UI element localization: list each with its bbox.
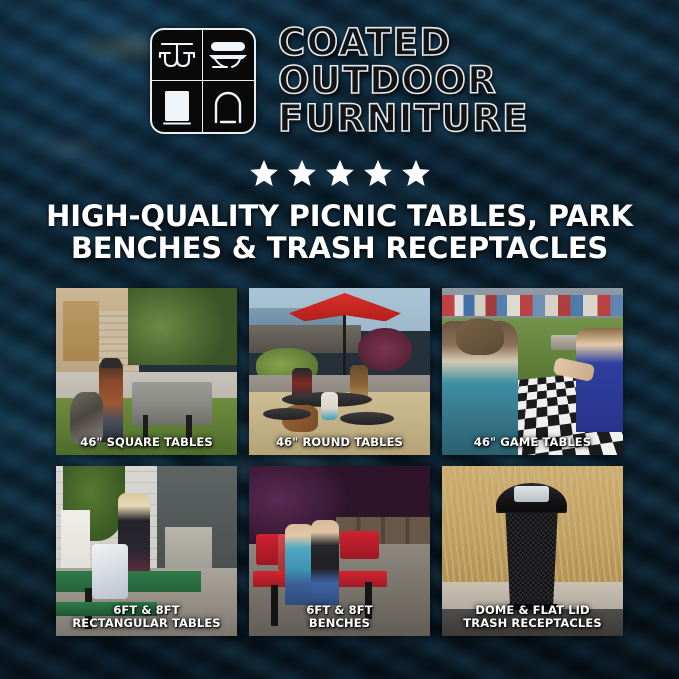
star-icon [401, 158, 431, 188]
product-caption-benches: 6FT & 8FT BENCHES [253, 604, 426, 629]
star-icon [363, 158, 393, 188]
star-rating [0, 158, 679, 188]
star-icon [325, 158, 355, 188]
star-icon [249, 158, 279, 188]
product-grid: 46" SQUARE TABLES 46" ROUND TABLES [56, 288, 623, 636]
wordmark-line-furniture: FURNITURE [278, 102, 529, 136]
product-tile-rectangular-tables[interactable]: 6FT & 8FT RECTANGULAR TABLES [56, 466, 237, 636]
poster-content: COATED OUTDOOR FURNITURE HIGH-QUALITY PI… [0, 0, 679, 679]
product-photo-game-tables [442, 288, 623, 455]
product-tile-benches[interactable]: 6FT & 8FT BENCHES [249, 466, 430, 636]
product-tile-trash-receptacles[interactable]: DOME & FLAT LID TRASH RECEPTACLES [442, 466, 623, 636]
product-tile-game-tables[interactable]: 46" GAME TABLES [442, 288, 623, 455]
product-caption-game-tables: 46" GAME TABLES [446, 436, 619, 448]
headline-line-2: BENCHES & TRASH RECEPTACLES [30, 232, 649, 264]
caption-line-2: RECTANGULAR TABLES [60, 617, 233, 629]
wordmark-line-outdoor: OUTDOOR [278, 64, 497, 98]
brand-wordmark: COATED OUTDOOR FURNITURE [278, 26, 529, 136]
caption-line-1: 46" GAME TABLES [474, 435, 591, 449]
product-caption-round-tables: 46" ROUND TABLES [253, 436, 426, 448]
headline-line-1: HIGH-QUALITY PICNIC TABLES, PARK [46, 199, 633, 233]
caption-line-2: BENCHES [253, 617, 426, 629]
brand-header: COATED OUTDOOR FURNITURE [0, 26, 679, 136]
caption-line-2: TRASH RECEPTACLES [446, 617, 619, 629]
wordmark-line-coated: COATED [278, 26, 452, 60]
product-photo-round-tables [249, 288, 430, 455]
product-caption-square-tables: 46" SQUARE TABLES [60, 436, 233, 448]
park-bench-icon [203, 30, 254, 81]
product-tile-round-tables[interactable]: 46" ROUND TABLES [249, 288, 430, 455]
product-tile-square-tables[interactable]: 46" SQUARE TABLES [56, 288, 237, 455]
product-caption-rectangular-tables: 6FT & 8FT RECTANGULAR TABLES [60, 604, 233, 629]
trash-receptacle-icon [152, 81, 203, 132]
product-photo-square-tables [56, 288, 237, 455]
page-title: HIGH-QUALITY PICNIC TABLES, PARK BENCHES… [30, 200, 649, 265]
square-picnic-table-icon [152, 30, 203, 81]
caption-line-1: 46" SQUARE TABLES [80, 435, 212, 449]
bike-rack-arch-icon [203, 81, 254, 132]
caption-line-1: 46" ROUND TABLES [276, 435, 403, 449]
star-icon [287, 158, 317, 188]
product-caption-trash-receptacles: DOME & FLAT LID TRASH RECEPTACLES [446, 604, 619, 629]
poster-canvas: COATED OUTDOOR FURNITURE HIGH-QUALITY PI… [0, 0, 679, 679]
coated-outdoor-furniture-logo [150, 28, 256, 134]
